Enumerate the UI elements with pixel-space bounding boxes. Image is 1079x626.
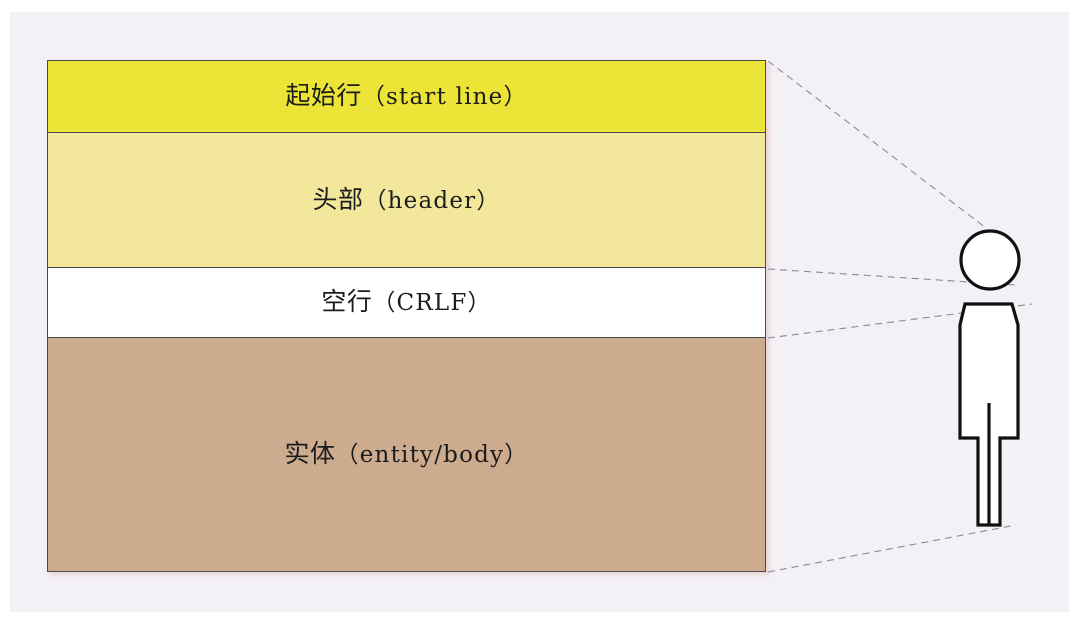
band-body-label: 实体（entity/body） xyxy=(285,442,529,467)
band-start-line-label: 起始行（start line） xyxy=(285,84,527,109)
http-message-stack: 起始行（start line） 头部（header） 空行（CRLF） 实体（e… xyxy=(47,60,766,572)
band-header-label: 头部（header） xyxy=(312,188,500,213)
diagram-canvas: 起始行（start line） 头部（header） 空行（CRLF） 实体（e… xyxy=(0,0,1079,626)
band-header[interactable]: 头部（header） xyxy=(47,132,766,268)
band-crlf-label: 空行（CRLF） xyxy=(321,290,491,315)
person-figure[interactable] xyxy=(938,218,1046,538)
band-start-line[interactable]: 起始行（start line） xyxy=(47,60,766,133)
band-body[interactable]: 实体（entity/body） xyxy=(47,337,766,572)
band-crlf[interactable]: 空行（CRLF） xyxy=(47,267,766,338)
person-head-icon xyxy=(961,231,1019,289)
